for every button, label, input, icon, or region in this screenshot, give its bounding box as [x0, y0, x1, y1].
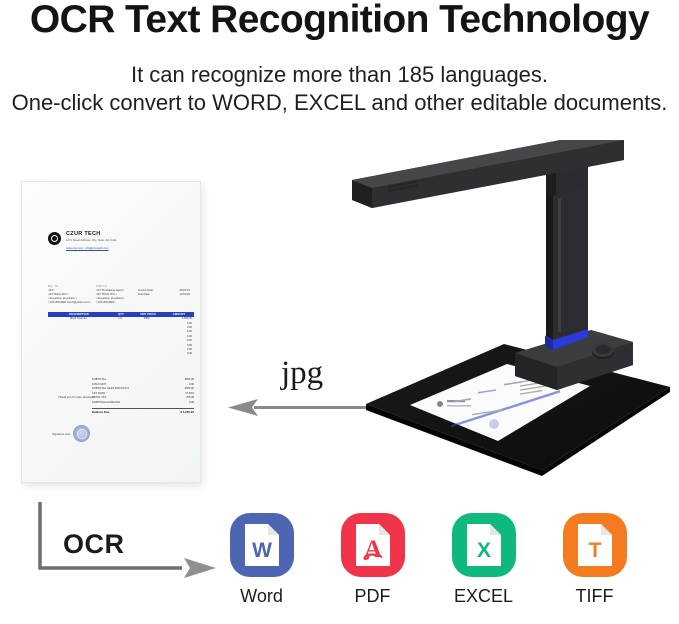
- format-item-word[interactable]: WWord: [206, 513, 317, 621]
- format-label: Word: [240, 586, 283, 606]
- invoice-total-row: SHIPPING/HANDLING0.00: [92, 401, 194, 406]
- invoice-doc-number: # 0001: [21, 255, 24, 270]
- scanned-invoice-document: CZUR TECH 1271 Street Address, City, Sta…: [21, 181, 201, 483]
- cell-description: Book Scanner: [48, 317, 109, 320]
- invoice-header: CZUR TECH 1271 Street Address, City, Sta…: [48, 231, 188, 251]
- invoice-company-address: 1271 Street Address, City, State, Zip Co…: [66, 239, 116, 243]
- cell-amount: 4,500.00: [162, 317, 194, 320]
- invoice-ship-to: SHIP TO <ET Purchasing Agent> <ET TECH L…: [96, 285, 138, 305]
- page-title: OCR Text Recognition Technology: [0, 0, 679, 42]
- signature-label: Signature and: [52, 432, 70, 436]
- cell-amount: 0.00: [162, 326, 194, 329]
- invoice-totals: SUBTOTAL4500.00DISCOUNT0.00SUBTOTAL LESS…: [92, 378, 194, 414]
- cell-amount: 0.00: [162, 335, 194, 338]
- column-header-qty: QTY: [110, 313, 132, 316]
- czur-document-scanner-illustration: [352, 140, 679, 480]
- cell-amount: 0.00: [162, 322, 194, 325]
- company-seal-icon: [73, 425, 90, 442]
- jpg-flow-arrow-icon: [228, 398, 370, 416]
- balance-due-value: $ 5,265.00: [180, 410, 194, 414]
- invoice-meta: Invoice Date: 25/07/19 Due Date: 12/01/2…: [138, 285, 190, 305]
- bill-to-line: <123-456-890x msnb@yahoo.com>: [48, 301, 96, 305]
- svg-text:W: W: [252, 539, 272, 562]
- cell-amount: 0.00: [162, 344, 194, 347]
- excel-file-icon: X: [452, 513, 516, 577]
- column-header-description: DESCRIPTION: [48, 313, 110, 316]
- jpg-output-label: jpg: [281, 355, 323, 391]
- format-item-pdf[interactable]: APDF: [317, 513, 428, 621]
- format-label: EXCEL: [454, 586, 513, 606]
- word-file-icon: W: [230, 513, 294, 577]
- invoice-company-name: CZUR TECH: [66, 231, 116, 238]
- format-item-tiff[interactable]: TTIFF: [539, 513, 650, 621]
- invoice-bill-to: BILL TO <ET> <ET TECH LTD.> <Anywhere, A…: [48, 285, 96, 305]
- balance-due-label: Balance Due: [92, 410, 109, 414]
- cell-amount: 0.00: [162, 352, 194, 355]
- cell-unit-price: 4500: [131, 317, 163, 320]
- table-row: 0.00: [48, 352, 194, 356]
- format-label: TIFF: [576, 586, 614, 606]
- cell-amount: 0.00: [162, 330, 194, 333]
- scanner-post: [546, 180, 588, 340]
- cell-amount: 0.00: [162, 348, 194, 351]
- svg-text:X: X: [476, 539, 490, 562]
- column-header-unit-price: UNIT PRICE: [132, 313, 164, 316]
- total-value: 0.00: [189, 401, 194, 406]
- tiff-file-icon: T: [563, 513, 627, 577]
- cell-amount: 0.00: [162, 339, 194, 342]
- svg-text:T: T: [588, 539, 601, 562]
- invoice-company-link: www.czur.com - info@czurtech.com: [66, 247, 116, 251]
- due-date-value: 12/01/20: [180, 293, 190, 297]
- invoice-address-block: BILL TO <ET> <ET TECH LTD.> <Anywhere, A…: [48, 285, 193, 305]
- pdf-file-icon: A: [341, 513, 405, 577]
- format-item-excel[interactable]: XEXCEL: [428, 513, 539, 621]
- czur-logo-icon: [48, 232, 61, 245]
- invoice-balance-due-row: Balance Due $ 5,265.00: [92, 408, 194, 414]
- cell-qty: 1.0: [109, 317, 131, 320]
- due-date-label: Due Date:: [138, 293, 150, 297]
- subtitle-line-2: One-click convert to WORD, EXCEL and oth…: [0, 90, 679, 116]
- subtitle-line-1: It can recognize more than 185 languages…: [0, 62, 679, 88]
- total-label: SHIPPING/HANDLING: [92, 401, 120, 406]
- invoice-thanks-note: Thank you for your business!: [58, 395, 95, 399]
- promo-graphic: OCR Text Recognition Technology It can r…: [0, 0, 679, 624]
- ocr-label: OCR: [63, 529, 125, 559]
- output-format-list: WWordAPDFXEXCELTTIFF: [206, 513, 652, 621]
- invoice-signature-block: Signature and: [52, 425, 90, 442]
- column-header-amount: AMOUNT: [164, 313, 194, 316]
- ship-to-line: <123-456-890x>: [96, 301, 138, 305]
- invoice-meta-row: Due Date: 12/01/20: [138, 293, 190, 297]
- invoice-line-items-table: DESCRIPTION QTY UNIT PRICE AMOUNT Book S…: [48, 312, 194, 356]
- format-label: PDF: [355, 586, 391, 606]
